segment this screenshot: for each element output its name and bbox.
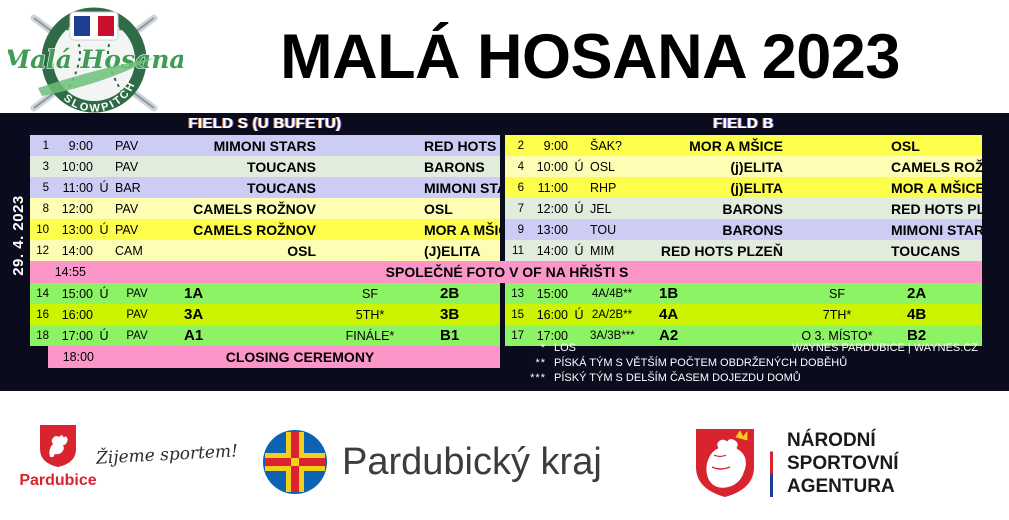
closing-ceremony-label: CLOSING CEREMONY <box>100 349 500 365</box>
away-team: MIMONI STARS <box>418 177 500 198</box>
nsa-label: NÁRODNÍ SPORTOVNÍ AGENTURA <box>787 429 899 498</box>
umpire-team: PAV <box>112 219 162 240</box>
game-number: 9 <box>505 219 527 240</box>
home-team: (j)ELITA <box>637 156 789 177</box>
umpire-team: MIM <box>587 240 637 261</box>
footnote-text: PÍSKÁ TÝM S VĚTŠÍM POČTEM OBDRŽENÝCH DOB… <box>554 356 982 371</box>
umpire-flag: Ú <box>571 198 587 219</box>
field-s-header: FIELD S (U BUFETU) <box>30 114 500 134</box>
home-team: BARONS <box>637 219 789 240</box>
umpire-flag <box>96 304 112 325</box>
game-stage <box>322 240 418 261</box>
game-row: 1013:00ÚPAVCAMELS ROŽNOVMOR A MŠICE <box>30 219 500 240</box>
game-number: 13 <box>505 283 527 304</box>
umpire-flag <box>96 198 112 219</box>
away-team: BARONS <box>418 156 500 177</box>
game-time: 10:00 <box>527 156 571 177</box>
game-stage <box>322 135 418 156</box>
footnote-marker: *** <box>508 371 554 386</box>
pardubice-horse-shield-icon <box>37 423 79 469</box>
game-number: 15 <box>505 304 527 325</box>
umpire-team: PAV <box>112 156 162 177</box>
game-time: 17:00 <box>52 325 96 346</box>
umpire-team: RHP <box>587 177 637 198</box>
away-team: 4B <box>885 304 982 325</box>
playoff-row: 1616:00PAV3A5TH*3B <box>30 304 500 325</box>
umpire-team: PAV <box>112 325 162 346</box>
game-number: 6 <box>505 177 527 198</box>
field-s-rows: 19:00PAVMIMONI STARSRED HOTS PLZEŇ310:00… <box>30 135 500 346</box>
game-stage <box>322 198 418 219</box>
game-time: 11:00 <box>52 177 96 198</box>
game-stage <box>789 135 885 156</box>
game-stage <box>789 219 885 240</box>
umpire-team: OSL <box>587 156 637 177</box>
game-row: 29:00ŠAK?MOR A MŠICEOSL <box>505 135 982 156</box>
footnote-3: ***PÍSKÝ TÝM S DELŠÍM ČASEM DOJEZDU DOMŮ <box>508 371 982 386</box>
game-row: 511:00ÚBARTOUCANSMIMONI STARS <box>30 177 500 198</box>
date-label: 29. 4. 2023 <box>6 135 30 335</box>
game-time: 14:00 <box>527 240 571 261</box>
game-number: 7 <box>505 198 527 219</box>
closing-ceremony-row: 18:00 CLOSING CEREMONY <box>48 346 500 368</box>
date-text: 29. 4. 2023 <box>10 195 27 276</box>
game-number: 11 <box>505 240 527 261</box>
umpire-flag: Ú <box>96 219 112 240</box>
umpire-flag <box>571 177 587 198</box>
game-time: 13:00 <box>52 219 96 240</box>
umpire-flag: Ú <box>571 240 587 261</box>
footnote-marker: ** <box>508 356 554 371</box>
umpire-flag <box>571 283 587 304</box>
umpire-flag <box>96 135 112 156</box>
game-row: 712:00ÚJELBARONSRED HOTS PLZEŇ <box>505 198 982 219</box>
umpire-team: ŠAK? <box>587 135 637 156</box>
umpire-flag <box>96 240 112 261</box>
game-number: 4 <box>505 156 527 177</box>
game-number: 2 <box>505 135 527 156</box>
credit-text: WAYNES PARDUBICE | WAYNES.CZ <box>792 341 982 356</box>
game-time: 14:00 <box>52 240 96 261</box>
game-time: 9:00 <box>52 135 96 156</box>
game-number: 16 <box>30 304 52 325</box>
home-team: RED HOTS PLZEŇ <box>637 240 789 261</box>
away-team: 2A <box>885 283 982 304</box>
umpire-flag: Ú <box>571 156 587 177</box>
game-number: 10 <box>30 219 52 240</box>
home-team: MIMONI STARS <box>162 135 322 156</box>
away-team: OSL <box>418 198 500 219</box>
home-team: MOR A MŠICE <box>637 135 789 156</box>
game-time: 16:00 <box>527 304 571 325</box>
umpire-team: BAR <box>112 177 162 198</box>
playoff-row: 1817:00ÚPAVA1FINÁLE*B1 <box>30 325 500 346</box>
game-number: 14 <box>30 283 52 304</box>
umpire-flag <box>571 219 587 240</box>
pardubicky-kraj-label: Pardubický kraj <box>342 441 602 484</box>
game-number: 8 <box>30 198 52 219</box>
game-number: 5 <box>30 177 52 198</box>
game-stage <box>789 156 885 177</box>
czech-lion-shield-icon <box>694 427 756 499</box>
game-row: 913:00TOUBARONSMIMONI STARS <box>505 219 982 240</box>
footnote-1: *LOSWAYNES PARDUBICE | WAYNES.CZ <box>508 341 982 356</box>
away-team: 3B <box>418 304 500 325</box>
game-row: 1114:00ÚMIMRED HOTS PLZEŇTOUCANS <box>505 240 982 261</box>
game-stage <box>789 177 885 198</box>
umpire-team: PAV <box>112 198 162 219</box>
nsa-line-2: SPORTOVNÍ <box>787 452 899 475</box>
away-team: B1 <box>418 325 500 346</box>
field-s-schedule-table: 19:00PAVMIMONI STARSRED HOTS PLZEŇ310:00… <box>30 135 500 346</box>
game-time: 10:00 <box>52 156 96 177</box>
game-stage: 7TH* <box>789 304 885 325</box>
field-b-rows: 29:00ŠAK?MOR A MŠICEOSL410:00ÚOSL(j)ELIT… <box>505 135 982 346</box>
home-team: 1B <box>637 283 789 304</box>
game-time: 13:00 <box>527 219 571 240</box>
sponsor-narodni-sportovni-agentura: NÁRODNÍ SPORTOVNÍ AGENTURA <box>694 427 899 499</box>
game-number: 12 <box>30 240 52 261</box>
sponsor-band: Pardubice Žijeme sportem! Pardubický kra… <box>0 391 1009 520</box>
game-stage <box>322 156 418 177</box>
umpire-flag: Ú <box>96 325 112 346</box>
umpire-team: PAV <box>112 304 162 325</box>
footnote-2: **PÍSKÁ TÝM S VĚTŠÍM POČTEM OBDRŽENÝCH D… <box>508 356 982 371</box>
home-team: 3A <box>162 304 322 325</box>
pardubicky-kraj-mark-icon <box>262 429 328 495</box>
game-time: 15:00 <box>527 283 571 304</box>
home-team: TOUCANS <box>162 156 322 177</box>
game-stage <box>322 219 418 240</box>
game-number: 3 <box>30 156 52 177</box>
mala-hosana-logo-icon: Malá Hosana SLOWPITCH <box>8 2 183 120</box>
field-b-schedule-table: 29:00ŠAK?MOR A MŠICEOSL410:00ÚOSL(j)ELIT… <box>505 135 982 346</box>
home-team: 4A <box>637 304 789 325</box>
pardubice-label: Pardubice <box>19 472 96 490</box>
playoff-row: 1516:00Ú2A/2B**4A7TH*4B <box>505 304 982 325</box>
closing-ceremony-time: 18:00 <box>48 350 100 364</box>
game-stage: FINÁLE* <box>322 325 418 346</box>
sponsor-pardubicky-kraj: Pardubický kraj <box>262 429 602 495</box>
playoff-row: 1415:00ÚPAV1ASF2B <box>30 283 500 304</box>
umpire-flag: Ú <box>96 177 112 198</box>
game-time: 11:00 <box>527 177 571 198</box>
header-band: Malá Hosana SLOWPITCH MALÁ HOSANA 2023 <box>0 0 1009 113</box>
game-row: 611:00RHP(j)ELITAMOR A MŠICE <box>505 177 982 198</box>
away-team: (J)ELITA <box>418 240 500 261</box>
game-row: 1214:00CAMOSL(J)ELITA <box>30 240 500 261</box>
home-team: CAMELS ROŽNOV <box>162 198 322 219</box>
footnotes: *LOSWAYNES PARDUBICE | WAYNES.CZ**PÍSKÁ … <box>508 341 982 386</box>
playoff-row: 1315:004A/4B**1BSF2A <box>505 283 982 304</box>
game-stage <box>789 240 885 261</box>
umpire-team: PAV <box>112 135 162 156</box>
nsa-line-3: AGENTURA <box>787 475 899 498</box>
footnote-text: PÍSKÝ TÝM S DELŠÍM ČASEM DOJEZDU DOMŮ <box>554 371 982 386</box>
away-team: MIMONI STARS <box>885 219 982 240</box>
game-time: 12:00 <box>52 198 96 219</box>
umpire-team: 4A/4B** <box>587 283 637 304</box>
umpire-team: CAM <box>112 240 162 261</box>
group-photo-label: SPOLEČNÉ FOTO V OF NA HŘIŠTI S <box>92 264 982 280</box>
home-team: TOUCANS <box>162 177 322 198</box>
sponsor-pardubice: Pardubice <box>12 423 104 490</box>
away-team: 2B <box>418 283 500 304</box>
umpire-team: JEL <box>587 198 637 219</box>
game-stage: SF <box>322 283 418 304</box>
away-team: RED HOTS PLZEŇ <box>885 198 982 219</box>
tournament-logo: Malá Hosana SLOWPITCH <box>8 2 183 120</box>
home-team: 1A <box>162 283 322 304</box>
away-team: OSL <box>885 135 982 156</box>
home-team: CAMELS ROŽNOV <box>162 219 322 240</box>
group-photo-row: 14:55 SPOLEČNÉ FOTO V OF NA HŘIŠTI S <box>30 261 982 283</box>
game-stage <box>789 198 885 219</box>
umpire-team: TOU <box>587 219 637 240</box>
game-row: 310:00PAVTOUCANSBARONS <box>30 156 500 177</box>
nsa-divider <box>770 429 773 497</box>
umpire-flag: Ú <box>571 304 587 325</box>
slogan-text: Žijeme sportem! <box>96 441 239 468</box>
group-photo-time: 14:55 <box>30 265 92 279</box>
home-team: BARONS <box>637 198 789 219</box>
page-title: MALÁ HOSANA 2023 <box>210 14 970 100</box>
game-stage: SF <box>789 283 885 304</box>
umpire-team: PAV <box>112 283 162 304</box>
footnote-text: LOS <box>554 341 792 356</box>
game-number: 18 <box>30 325 52 346</box>
home-team: A1 <box>162 325 322 346</box>
umpire-flag <box>96 156 112 177</box>
game-number: 1 <box>30 135 52 156</box>
game-time: 16:00 <box>52 304 96 325</box>
game-stage <box>322 177 418 198</box>
home-team: OSL <box>162 240 322 261</box>
game-stage: 5TH* <box>322 304 418 325</box>
game-time: 12:00 <box>527 198 571 219</box>
game-time: 9:00 <box>527 135 571 156</box>
game-time: 15:00 <box>52 283 96 304</box>
footnote-marker: * <box>508 341 554 356</box>
home-team: (j)ELITA <box>637 177 789 198</box>
away-team: RED HOTS PLZEŇ <box>418 135 500 156</box>
game-row: 19:00PAVMIMONI STARSRED HOTS PLZEŇ <box>30 135 500 156</box>
umpire-flag: Ú <box>96 283 112 304</box>
sponsor-slogan: Žijeme sportem! <box>96 433 246 477</box>
game-row: 812:00PAVCAMELS ROŽNOVOSL <box>30 198 500 219</box>
schedule-panel: FIELD S (U BUFETU) FIELD B 29. 4. 2023 1… <box>0 113 1009 391</box>
away-team: MOR A MŠICE <box>418 219 500 240</box>
umpire-flag <box>571 135 587 156</box>
away-team: MOR A MŠICE <box>885 177 982 198</box>
umpire-team: 2A/2B** <box>587 304 637 325</box>
away-team: TOUCANS <box>885 240 982 261</box>
field-b-header: FIELD B <box>505 114 982 134</box>
away-team: CAMELS ROŽNOV <box>885 156 982 177</box>
nsa-line-1: NÁRODNÍ <box>787 429 899 452</box>
game-row: 410:00ÚOSL(j)ELITACAMELS ROŽNOV <box>505 156 982 177</box>
svg-text:Malá Hosana: Malá Hosana <box>8 45 183 74</box>
